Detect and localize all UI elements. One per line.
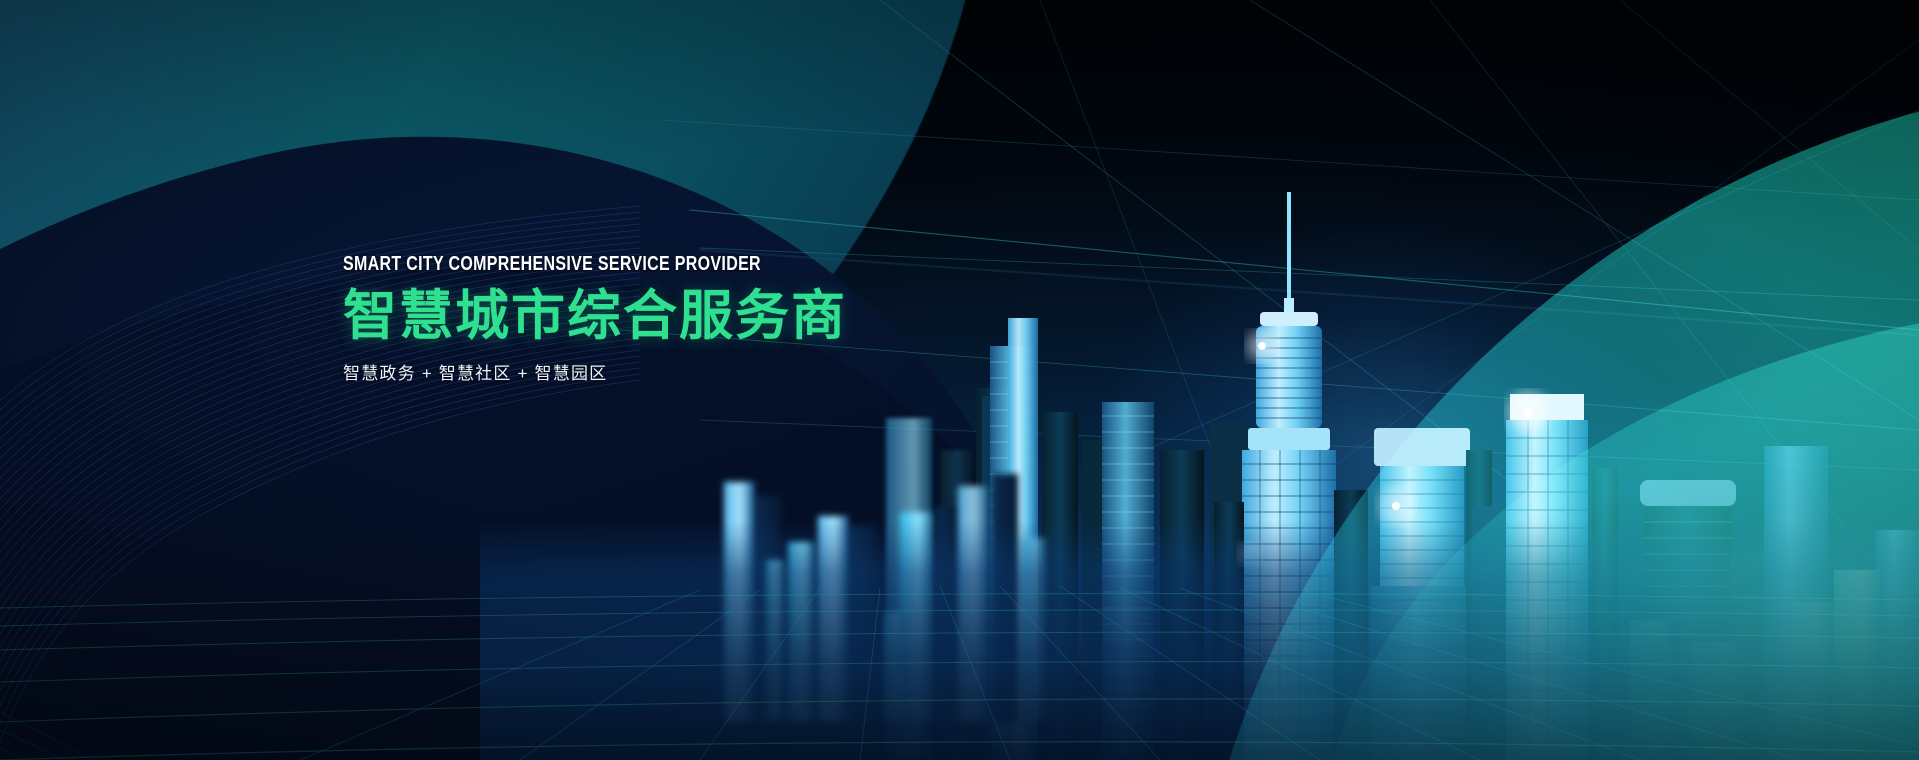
- sub-tagline: 智慧政务 + 智慧社区 + 智慧园区: [343, 359, 983, 384]
- page-title: 智慧城市综合服务商: [343, 287, 983, 345]
- hero-copy-block: SMART CITY COMPREHENSIVE SERVICE PROVIDE…: [343, 253, 983, 384]
- smart-city-hero-banner: SMART CITY COMPREHENSIVE SERVICE PROVIDE…: [0, 0, 1919, 760]
- english-tagline: SMART CITY COMPREHENSIVE SERVICE PROVIDE…: [343, 253, 855, 276]
